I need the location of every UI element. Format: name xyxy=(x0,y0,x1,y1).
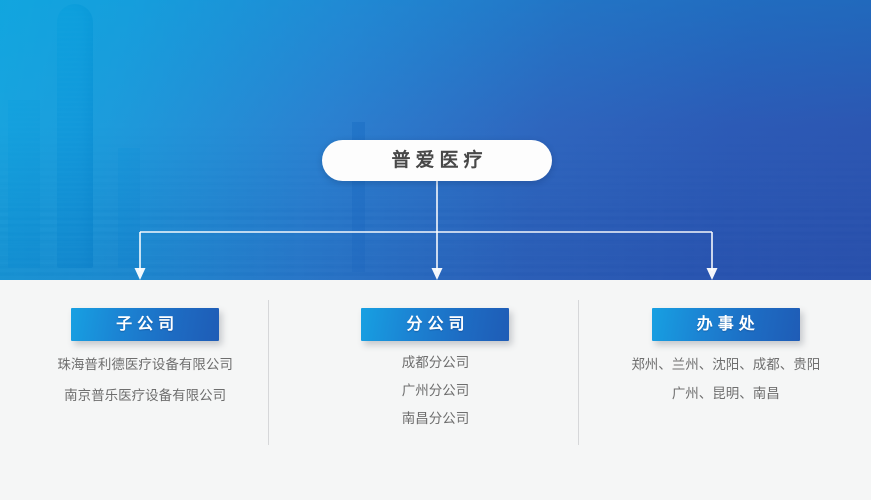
root-node[interactable]: 普爱医疗 xyxy=(322,140,552,181)
column-header-label: 分公司 xyxy=(401,317,469,333)
column-items-offices: 郑州、兰州、沈阳、成都、贵阳 广州、昆明、南昌 xyxy=(631,357,820,403)
org-chart-page: 普爱医疗 子公司 珠海普利德医疗设备有限公司 南京普乐 xyxy=(0,0,871,500)
column-header-label: 办事处 xyxy=(692,317,760,333)
column-subsidiaries: 子公司 珠海普利德医疗设备有限公司 南京普乐医疗设备有限公司 xyxy=(0,280,290,500)
list-item[interactable]: 广州、昆明、南昌 xyxy=(672,386,780,403)
column-offices: 办事处 郑州、兰州、沈阳、成都、贵阳 广州、昆明、南昌 xyxy=(581,280,871,500)
column-header-subsidiaries[interactable]: 子公司 xyxy=(71,308,219,341)
list-item[interactable]: 成都分公司 xyxy=(402,355,470,372)
list-item[interactable]: 珠海普利德医疗设备有限公司 xyxy=(57,357,233,374)
column-items-branches: 成都分公司 广州分公司 南昌分公司 xyxy=(402,355,470,428)
column-header-branches[interactable]: 分公司 xyxy=(361,308,509,341)
column-header-label: 子公司 xyxy=(111,317,179,333)
column-branches: 分公司 成都分公司 广州分公司 南昌分公司 xyxy=(290,280,580,500)
list-item[interactable]: 南昌分公司 xyxy=(402,411,470,428)
column-items-subsidiaries: 珠海普利德医疗设备有限公司 南京普乐医疗设备有限公司 xyxy=(57,357,233,405)
list-item[interactable]: 广州分公司 xyxy=(402,383,470,400)
list-item[interactable]: 南京普乐医疗设备有限公司 xyxy=(64,388,226,405)
list-item[interactable]: 郑州、兰州、沈阳、成都、贵阳 xyxy=(631,357,820,374)
branches-panel: 子公司 珠海普利德医疗设备有限公司 南京普乐医疗设备有限公司 分公司 成都分公司… xyxy=(0,280,871,500)
root-node-label: 普爱医疗 xyxy=(386,151,487,170)
columns-container: 子公司 珠海普利德医疗设备有限公司 南京普乐医疗设备有限公司 分公司 成都分公司… xyxy=(0,280,871,500)
column-header-offices[interactable]: 办事处 xyxy=(652,308,800,341)
